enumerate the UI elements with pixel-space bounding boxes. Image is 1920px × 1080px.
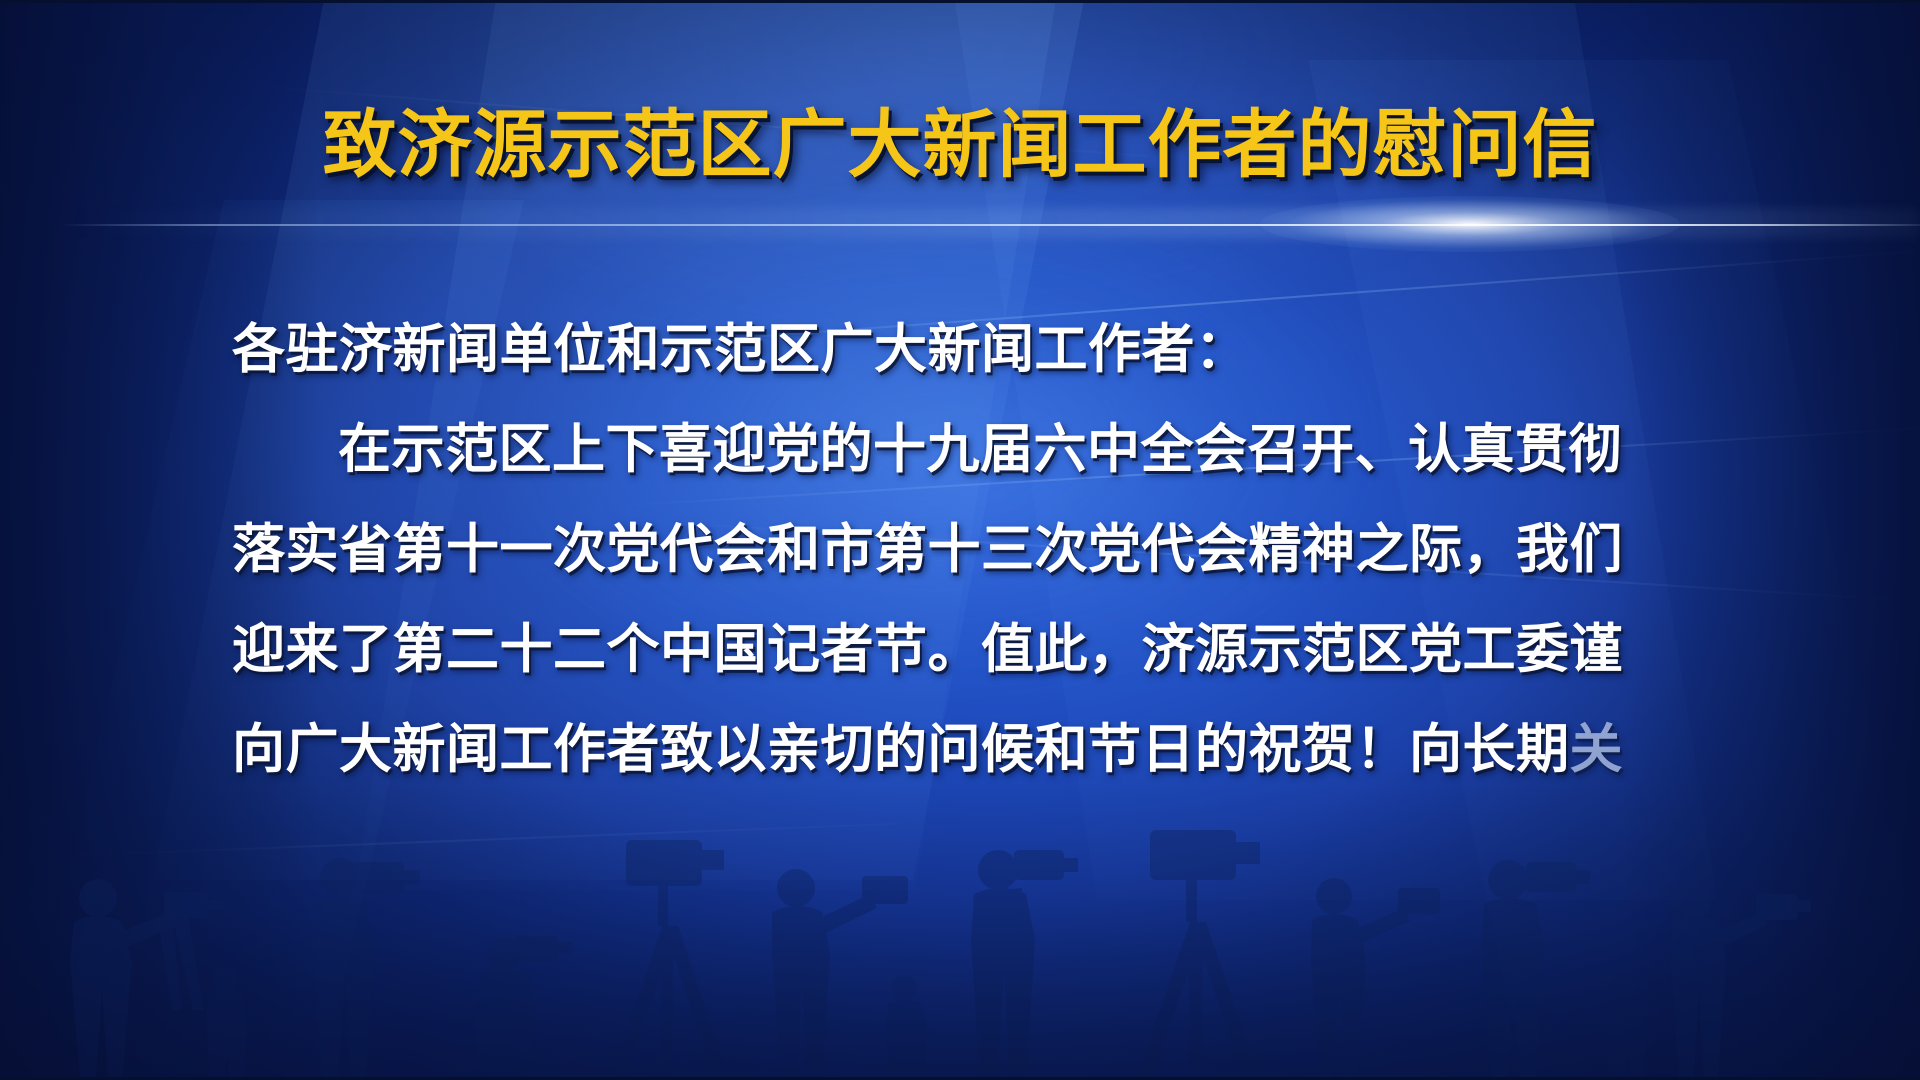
body-line: 迎来了第二十二个中国记者节。值此，济源示范区党工委谨 <box>232 600 1722 700</box>
body-line: 落实省第十一次党代会和市第十三次党代会精神之际，我们 <box>232 500 1722 600</box>
body-line: 各驻济新闻单位和示范区广大新闻工作者： <box>232 300 1722 400</box>
body-line-trailing-char: 关 <box>1570 720 1624 779</box>
body-line: 在示范区上下喜迎党的十九届六中全会召开、认真贯彻 <box>232 400 1722 500</box>
letter-body: 各驻济新闻单位和示范区广大新闻工作者： 在示范区上下喜迎党的十九届六中全会召开、… <box>232 300 1722 800</box>
body-line-last: 向广大新闻工作者致以亲切的问候和节日的祝贺！向长期关 <box>232 700 1722 800</box>
page-title: 致济源示范区广大新闻工作者的慰问信 <box>0 108 1920 182</box>
slide-canvas: 致济源示范区广大新闻工作者的慰问信 各驻济新闻单位和示范区广大新闻工作者： 在示… <box>0 0 1920 1080</box>
body-line-text: 向广大新闻工作者致以亲切的问候和节日的祝贺！向长期 <box>232 720 1570 779</box>
